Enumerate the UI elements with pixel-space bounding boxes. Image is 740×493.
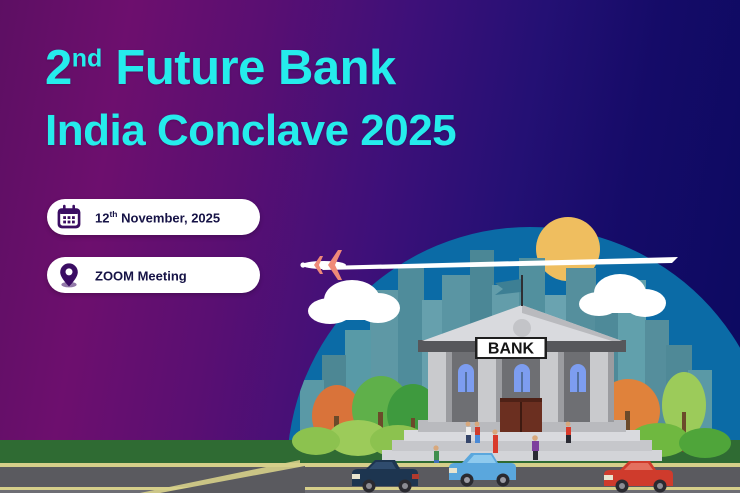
- bank-sign-text: BANK: [488, 341, 535, 358]
- headline-ordinal: nd: [72, 45, 103, 73]
- pill-date-label: 12th November, 2025: [95, 209, 220, 225]
- bank-step-lower: [382, 450, 662, 461]
- event-meta-pills: 12th November, 2025 ZOOM Meeting: [47, 199, 260, 293]
- headline-line-1: 2nd Future Bank: [45, 44, 456, 93]
- pill-location-label: ZOOM Meeting: [95, 267, 187, 283]
- pediment-medallion: [513, 319, 531, 337]
- airplane-icon: [300, 250, 346, 280]
- bank-step-mid: [392, 440, 652, 451]
- pill-event-date[interactable]: 12th November, 2025: [47, 199, 260, 235]
- pill-event-location[interactable]: ZOOM Meeting: [47, 257, 260, 293]
- headline-number: 2: [45, 41, 72, 95]
- headline-rest: Future Bank: [102, 41, 395, 95]
- date-ordinal: th: [109, 209, 117, 219]
- page-title: 2nd Future Bank India Conclave 2025: [45, 44, 456, 153]
- flag-pole: [521, 275, 523, 306]
- event-banner: BANK: [0, 0, 740, 493]
- headline-line-2: India Conclave 2025: [45, 109, 456, 153]
- location-pin-icon: [56, 262, 82, 288]
- calendar-icon: [56, 204, 82, 230]
